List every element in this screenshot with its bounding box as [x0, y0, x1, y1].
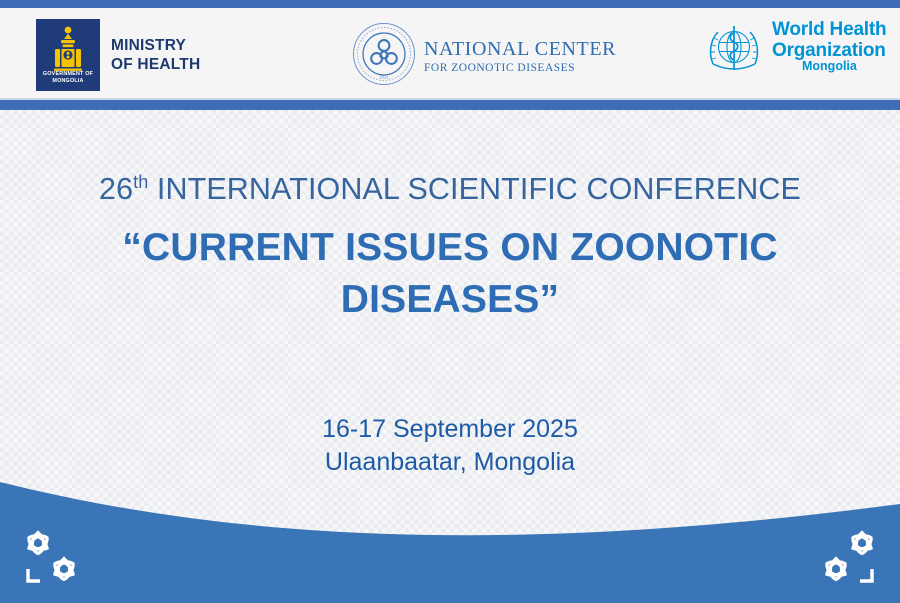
national-center-name-line2: FOR ZOONOTIC DISEASES: [424, 63, 616, 75]
ministry-of-health-logo: GOVERNMENT OF MONGOLIA MINISTRY OF HEALT…: [36, 19, 200, 91]
who-mongolia-logo: World Health Organization Mongolia: [703, 20, 886, 83]
theme-title-line1: “CURRENT ISSUES ON ZOONOTIC: [0, 222, 900, 274]
national-center-name-line1: NATIONAL CENTER: [424, 39, 616, 59]
conference-date: 16-17 September 2025: [0, 413, 900, 446]
national-center-zoonotic-diseases-logo: 1931 NATIONAL CENTER FOR ZOONOTIC DISEAS…: [352, 22, 616, 91]
who-name-line2: Organization: [772, 41, 886, 60]
conference-theme-title: “CURRENT ISSUES ON ZOONOTIC DISEASES”: [0, 222, 900, 326]
who-rod-of-asclepius-icon: [703, 20, 765, 83]
bottom-wave-band: [0, 458, 900, 603]
theme-title-line2: DISEASES”: [0, 274, 900, 326]
triquetra-knot-ornament-right: [808, 521, 886, 591]
ministry-emblem-caption: GOVERNMENT OF MONGOLIA: [36, 71, 100, 85]
who-name-line1: World Health: [772, 20, 886, 39]
edition-number: 26: [99, 172, 133, 206]
conference-title-slide: GOVERNMENT OF MONGOLIA MINISTRY OF HEALT…: [0, 0, 900, 603]
top-accent-bar: [0, 0, 900, 8]
conference-subtitle: INTERNATIONAL SCIENTIFIC CONFERENCE: [148, 172, 801, 206]
ministry-name-line1: MINISTRY: [111, 37, 186, 54]
triquetra-knot-ornament-left: [14, 521, 92, 591]
emblem-caption-line1: GOVERNMENT OF: [43, 71, 93, 77]
ministry-of-health-name: MINISTRY OF HEALTH: [111, 36, 200, 74]
svg-text:1931: 1931: [379, 76, 390, 81]
edition-ordinal-suffix: th: [133, 172, 148, 192]
title-block: 26th INTERNATIONAL SCIENTIFIC CONFERENCE…: [0, 168, 900, 326]
soyombo-emblem-icon: GOVERNMENT OF MONGOLIA: [36, 19, 100, 91]
who-name: World Health Organization Mongolia: [772, 20, 886, 73]
who-country-label: Mongolia: [772, 60, 886, 73]
conference-edition-line: 26th INTERNATIONAL SCIENTIFIC CONFERENCE: [0, 168, 900, 210]
biohazard-seal-icon: 1931: [352, 22, 416, 91]
header-divider-bar: [0, 100, 900, 110]
ministry-name-line2: OF HEALTH: [111, 56, 200, 73]
national-center-name: NATIONAL CENTER FOR ZOONOTIC DISEASES: [424, 39, 616, 75]
emblem-caption-line2: MONGOLIA: [52, 78, 83, 84]
